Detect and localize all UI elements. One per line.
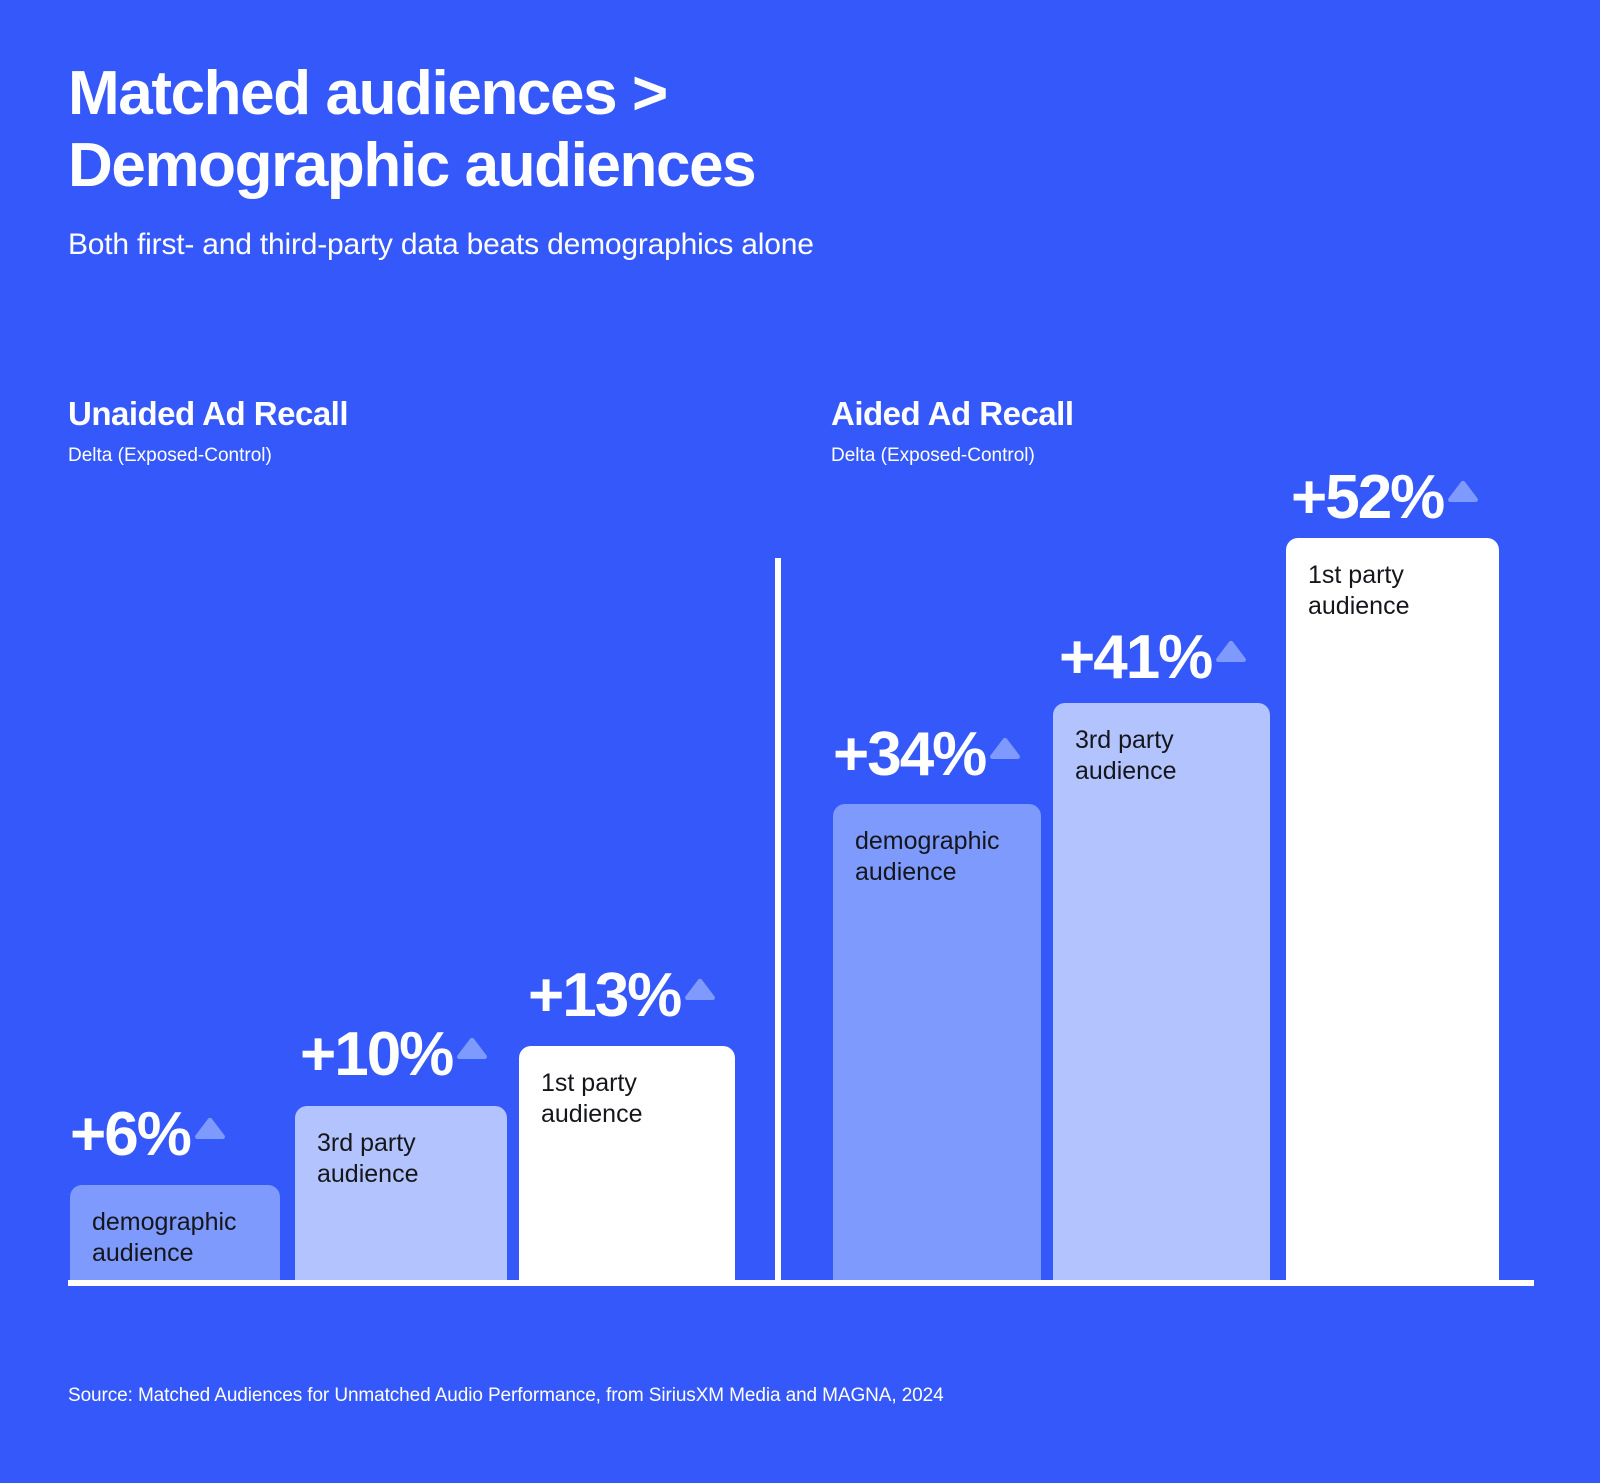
triangle-up-icon	[1446, 477, 1480, 503]
header-block: Matched audiences > Demographic audience…	[68, 58, 1368, 262]
source-note: Source: Matched Audiences for Unmatched …	[68, 1385, 944, 1407]
chart-baseline-axis	[68, 1280, 1534, 1286]
panel-heading-aided: Aided Ad Recall Delta (Exposed-Control)	[831, 395, 1074, 467]
triangle-up-icon	[988, 734, 1022, 760]
value-unaided-demographic: +6%	[70, 1104, 227, 1166]
value-text-unaided-first-party: +13%	[528, 965, 680, 1027]
bar-aided-first-party[interactable]: 1st party audience	[1286, 538, 1499, 1280]
bar-unaided-third-party[interactable]: 3rd party audience	[295, 1106, 507, 1280]
panel-divider-line	[775, 558, 781, 1282]
triangle-up-icon	[1214, 637, 1248, 663]
value-aided-demographic: +34%	[833, 724, 1022, 786]
triangle-up-icon	[455, 1034, 489, 1060]
value-aided-third-party: +41%	[1059, 627, 1248, 689]
bar-aided-third-party[interactable]: 3rd party audience	[1053, 703, 1270, 1280]
bar-aided-demographic[interactable]: demographic audience	[833, 804, 1041, 1280]
value-unaided-third-party: +10%	[300, 1024, 489, 1086]
value-text-aided-demographic: +34%	[833, 724, 985, 786]
bar-label-unaided-third-party: 3rd party audience	[317, 1128, 493, 1189]
value-text-aided-first-party: +52%	[1291, 467, 1443, 529]
panel-title-aided: Aided Ad Recall	[831, 395, 1074, 433]
panel-subtitle-unaided: Delta (Exposed-Control)	[68, 445, 348, 467]
panel-title-unaided: Unaided Ad Recall	[68, 395, 348, 433]
value-aided-first-party: +52%	[1291, 467, 1480, 529]
panel-subtitle-aided: Delta (Exposed-Control)	[831, 445, 1074, 467]
value-text-unaided-demographic: +6%	[70, 1104, 190, 1166]
bar-label-unaided-first-party: 1st party audience	[541, 1068, 721, 1129]
page-title: Matched audiences > Demographic audience…	[68, 58, 1368, 202]
bar-label-aided-first-party: 1st party audience	[1308, 560, 1485, 621]
value-text-aided-third-party: +41%	[1059, 627, 1211, 689]
panel-heading-unaided: Unaided Ad Recall Delta (Exposed-Control…	[68, 395, 348, 467]
bar-label-aided-demographic: demographic audience	[855, 826, 1027, 887]
value-unaided-first-party: +13%	[528, 965, 717, 1027]
bar-label-unaided-demographic: demographic audience	[92, 1207, 266, 1268]
page-subtitle: Both first- and third-party data beats d…	[68, 228, 1368, 262]
triangle-up-icon	[193, 1114, 227, 1140]
bar-label-aided-third-party: 3rd party audience	[1075, 725, 1256, 786]
bar-unaided-first-party[interactable]: 1st party audience	[519, 1046, 735, 1280]
triangle-up-icon	[683, 975, 717, 1001]
value-text-unaided-third-party: +10%	[300, 1024, 452, 1086]
bar-unaided-demographic[interactable]: demographic audience	[70, 1185, 280, 1280]
